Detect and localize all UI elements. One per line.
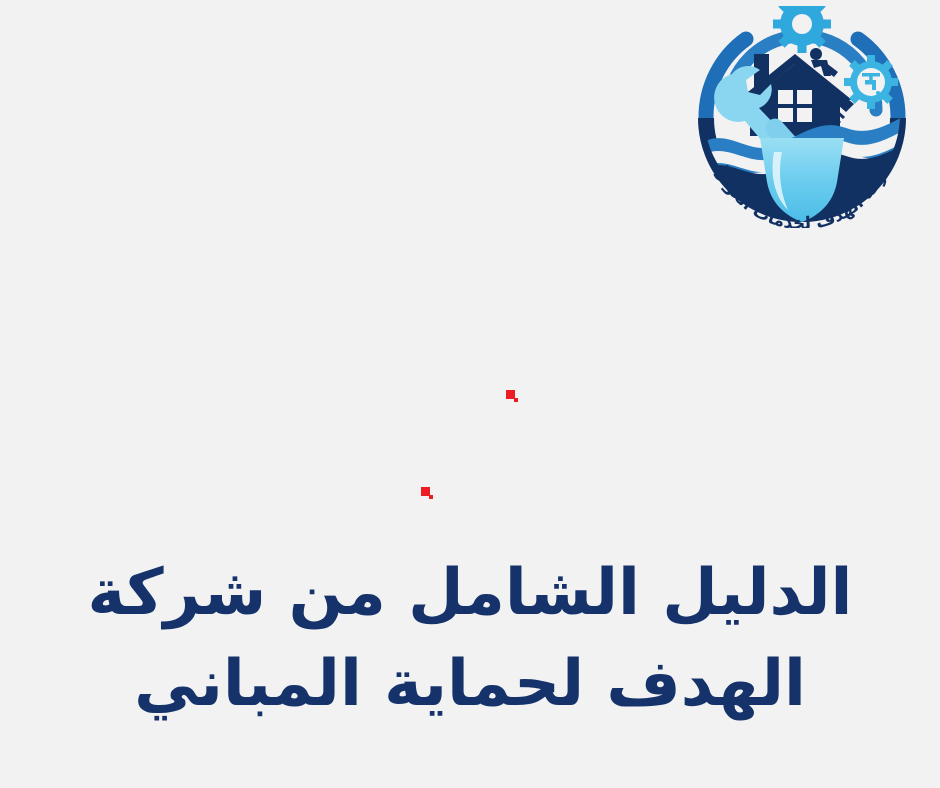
company-logo-graphic: شركة الهدف لخدمات العوازل: [694, 6, 910, 228]
faucet-gear-icon: [844, 55, 898, 109]
heading-block: الدليل الشامل من شركة الهدف لحماية المبا…: [0, 548, 940, 730]
broken-image-placeholder-2: [421, 487, 430, 496]
page-canvas: شركة الهدف لخدمات العوازل الدليل الشامل …: [0, 0, 940, 788]
broken-image-placeholder-1: [506, 390, 515, 399]
company-logo: شركة الهدف لخدمات العوازل: [694, 6, 910, 228]
page-title: الدليل الشامل من شركة الهدف لحماية المبا…: [56, 548, 884, 730]
gear-icon: [773, 6, 831, 53]
